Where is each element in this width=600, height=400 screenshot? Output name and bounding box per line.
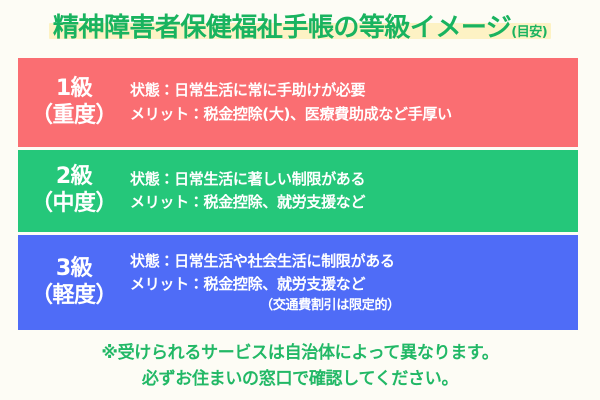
grade-label-3: 3級 （軽度） bbox=[18, 256, 130, 310]
grade-level-2: （中度） bbox=[18, 191, 130, 218]
grade-band-3: 3級 （軽度） 状態：日常生活や社会生活に制限がある メリット：税金控除、就労支… bbox=[18, 235, 578, 330]
grade-level-3: （軽度） bbox=[18, 283, 130, 310]
grade-benefit-3: メリット：税金控除、就労支援など bbox=[130, 273, 570, 296]
footer-note-line-2: 必ずお住まいの窓口で確認してください。 bbox=[0, 366, 600, 392]
grade-details-3: 状態：日常生活や社会生活に制限がある メリット：税金控除、就労支援など （交通費… bbox=[130, 250, 578, 316]
grade-level-1: （重度） bbox=[18, 103, 130, 130]
grade-note-3: （交通費割引は限定的） bbox=[130, 296, 570, 316]
footer-note: ※受けられるサービスは自治体によって異なります。 必ずお住まいの窓口で確認してく… bbox=[0, 340, 600, 393]
grade-condition-2: 状態：日常生活に著しい制限がある bbox=[130, 168, 570, 191]
grade-band-list: 1級 （重度） 状態：日常生活に常に手助けが必要 メリット：税金控除(大)、医療… bbox=[18, 58, 578, 333]
title-sub-text: (目安) bbox=[511, 25, 547, 40]
title-main-text: 精神障害者保健福祉手帳の等級イメージ bbox=[53, 13, 511, 43]
grade-condition-3: 状態：日常生活や社会生活に制限がある bbox=[130, 250, 570, 273]
grade-infographic: 精神障害者保健福祉手帳の等級イメージ(目安) 1級 （重度） 状態：日常生活に常… bbox=[0, 0, 600, 400]
grade-rank-2: 2級 bbox=[18, 164, 130, 191]
grade-rank-1: 1級 bbox=[18, 76, 130, 103]
grade-details-1: 状態：日常生活に常に手助けが必要 メリット：税金控除(大)、医療費助成など手厚い bbox=[130, 79, 578, 126]
title-text-group: 精神障害者保健福祉手帳の等級イメージ(目安) bbox=[53, 15, 547, 41]
grade-rank-3: 3級 bbox=[18, 256, 130, 283]
footer-note-line-1: ※受けられるサービスは自治体によって異なります。 bbox=[0, 340, 600, 366]
grade-condition-1: 状態：日常生活に常に手助けが必要 bbox=[130, 79, 570, 102]
grade-details-2: 状態：日常生活に著しい制限がある メリット：税金控除、就労支援など bbox=[130, 168, 578, 215]
grade-label-1: 1級 （重度） bbox=[18, 76, 130, 130]
grade-band-1: 1級 （重度） 状態：日常生活に常に手助けが必要 メリット：税金控除(大)、医療… bbox=[18, 58, 578, 147]
grade-benefit-1: メリット：税金控除(大)、医療費助成など手厚い bbox=[130, 103, 570, 126]
grade-benefit-2: メリット：税金控除、就労支援など bbox=[130, 191, 570, 214]
grade-band-2: 2級 （中度） 状態：日常生活に著しい制限がある メリット：税金控除、就労支援な… bbox=[18, 150, 578, 232]
page-title: 精神障害者保健福祉手帳の等級イメージ(目安) bbox=[0, 0, 600, 56]
grade-label-2: 2級 （中度） bbox=[18, 164, 130, 218]
